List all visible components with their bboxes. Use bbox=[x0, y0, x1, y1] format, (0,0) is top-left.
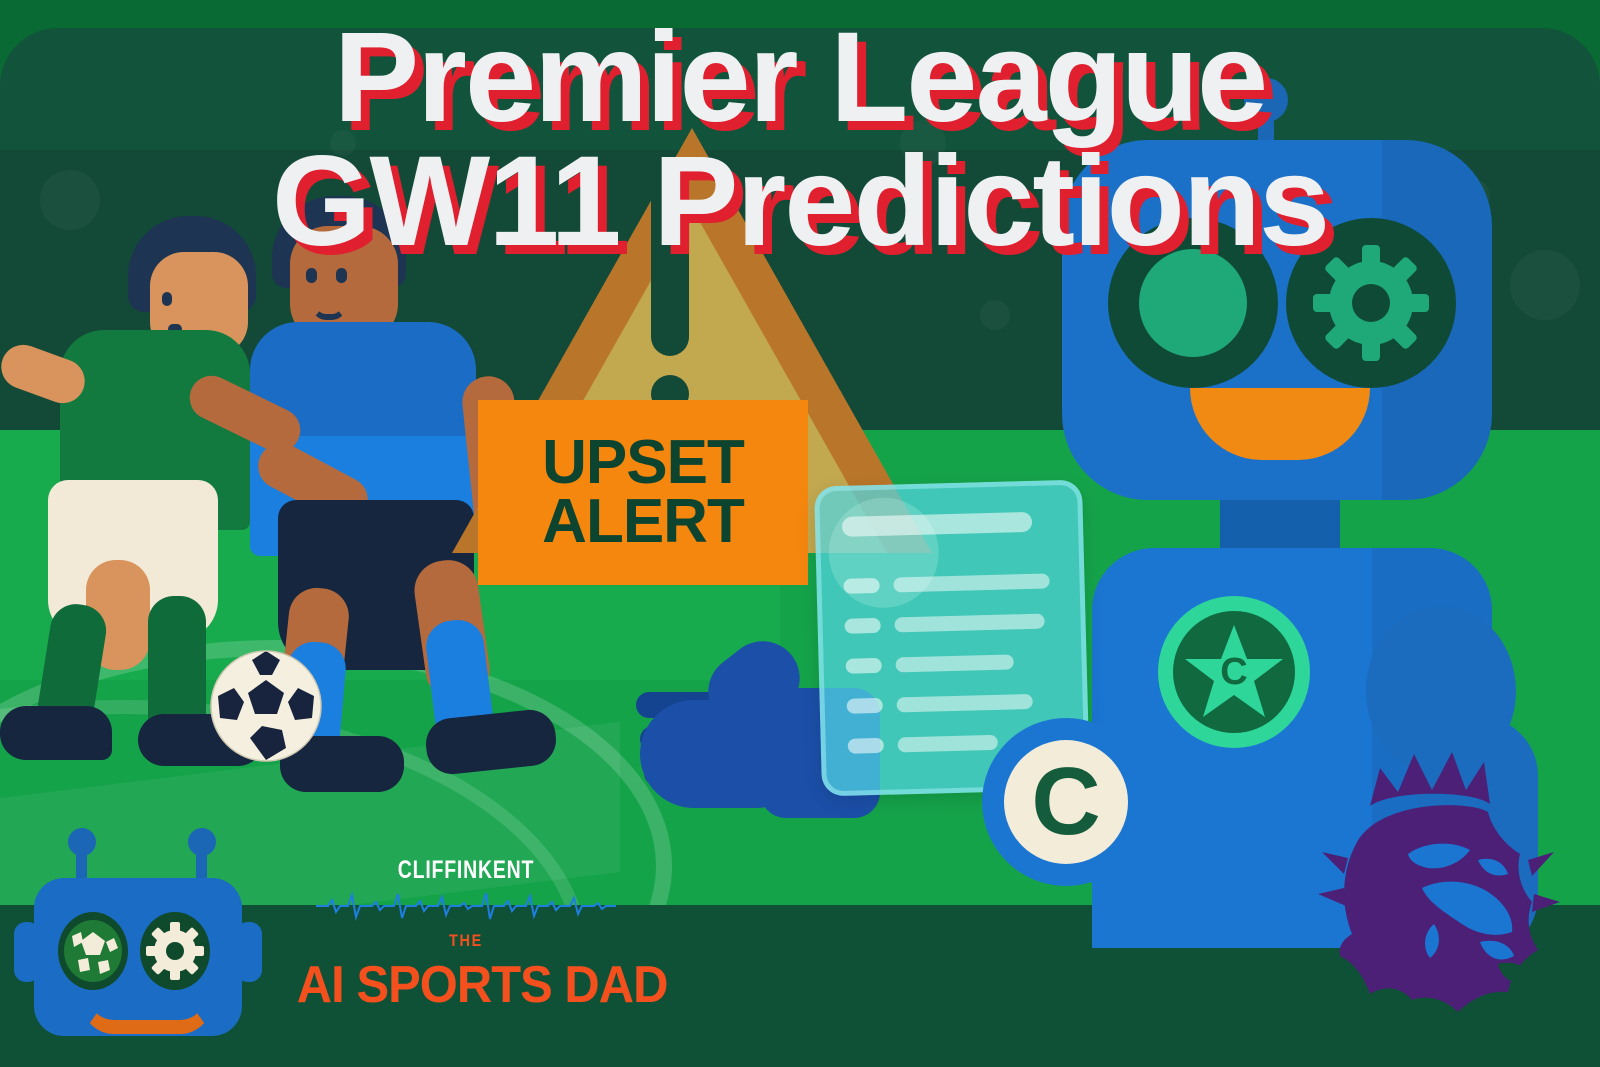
mascot-antenna-ball bbox=[188, 828, 216, 856]
brand-block: CLIFFINKENT THE AI SPORTS DAD bbox=[286, 856, 646, 1015]
soccer-ball-icon bbox=[210, 650, 322, 762]
bokeh-dot bbox=[1510, 250, 1580, 320]
player-mouth bbox=[312, 298, 346, 320]
player-eye bbox=[162, 292, 172, 306]
player-eye bbox=[306, 268, 317, 283]
thumbnail-canvas: UPSET ALERT bbox=[0, 0, 1600, 1067]
coin-letter: C bbox=[1004, 740, 1128, 864]
player-boot bbox=[0, 706, 112, 760]
mascot-football-glyph bbox=[64, 920, 122, 982]
doc-bullet bbox=[848, 738, 884, 754]
mascot-antenna-ball bbox=[68, 828, 96, 856]
upset-alert-band: UPSET ALERT bbox=[478, 400, 808, 585]
brand-handle: CLIFFINKENT bbox=[326, 856, 607, 885]
doc-line bbox=[893, 573, 1049, 592]
bokeh-dot bbox=[980, 300, 1010, 330]
doc-bullet bbox=[844, 618, 880, 634]
player-eye bbox=[336, 268, 347, 283]
doc-line bbox=[898, 735, 998, 753]
robot-antenna-ball bbox=[1244, 78, 1288, 122]
brand-prefix: THE bbox=[313, 931, 619, 951]
doc-line bbox=[895, 654, 1013, 672]
alert-line-1: UPSET bbox=[542, 434, 744, 493]
doc-gloss bbox=[827, 496, 940, 609]
doc-title-line bbox=[842, 512, 1032, 537]
mascot-gear-glyph bbox=[146, 922, 204, 980]
alert-line-2: ALERT bbox=[542, 493, 744, 552]
audio-waveform-icon bbox=[316, 891, 616, 921]
doc-bullet bbox=[846, 658, 882, 674]
football-eye-inner bbox=[1139, 249, 1247, 357]
bokeh-dot bbox=[330, 130, 356, 156]
doc-line bbox=[897, 694, 1033, 713]
brand-name: AI SPORTS DAD bbox=[297, 955, 635, 1015]
mascot-smile bbox=[82, 1002, 212, 1034]
premier-league-lion-icon bbox=[1282, 728, 1582, 1028]
gear-eye-glyph bbox=[1311, 243, 1431, 363]
star-badge-letter: C bbox=[1212, 650, 1256, 694]
doc-bullet bbox=[843, 578, 879, 594]
doc-bullet bbox=[847, 698, 883, 714]
robot-neck bbox=[1220, 498, 1340, 554]
bokeh-dot bbox=[40, 170, 100, 230]
exclamation-bar-icon bbox=[651, 176, 689, 356]
doc-line bbox=[894, 614, 1044, 633]
